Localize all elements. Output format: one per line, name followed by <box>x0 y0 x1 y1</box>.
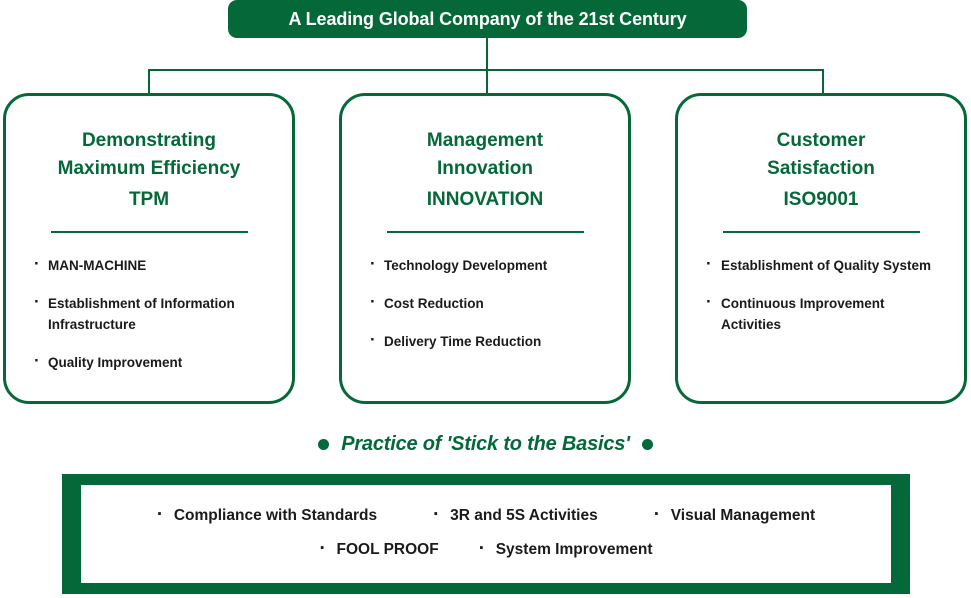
pillar-heading: Demonstrating Maximum Efficiency <box>6 96 292 183</box>
basics-row-1: Compliance with Standards 3R and 5S Acti… <box>81 507 891 525</box>
pillar-heading-line2: Innovation <box>342 155 628 183</box>
list-item: Continuous Improvement Activities <box>706 293 944 335</box>
pillar-divider <box>723 231 920 233</box>
pillar-item-list: Establishment of Quality System Continuo… <box>678 255 964 335</box>
pillar-card-innovation: Management Innovation INNOVATION Technol… <box>339 93 631 404</box>
bullet-dot-icon <box>642 439 653 450</box>
pillar-heading: Management Innovation <box>342 96 628 183</box>
pillar-heading-line2: Satisfaction <box>678 155 964 183</box>
practice-title: Practice of 'Stick to the Basics' <box>341 433 630 456</box>
list-item: MAN-MACHINE <box>34 255 272 276</box>
bullet-dot-icon <box>318 439 329 450</box>
pillar-subtitle: INNOVATION <box>342 183 628 211</box>
pillar-card-tpm: Demonstrating Maximum Efficiency TPM MAN… <box>3 93 295 404</box>
pillar-heading: Customer Satisfaction <box>678 96 964 183</box>
basics-box: Compliance with Standards 3R and 5S Acti… <box>62 474 910 594</box>
pillar-item-list: Technology Development Cost Reduction De… <box>342 255 628 352</box>
top-banner: A Leading Global Company of the 21st Cen… <box>228 0 747 38</box>
pillar-subtitle: ISO9001 <box>678 183 964 211</box>
list-item: Quality Improvement <box>34 352 272 373</box>
top-banner-title: A Leading Global Company of the 21st Cen… <box>289 9 687 30</box>
pillar-heading-line1: Customer <box>678 127 964 155</box>
list-item: Establishment of Information Infrastruct… <box>34 293 272 335</box>
diagram-canvas: A Leading Global Company of the 21st Cen… <box>0 0 971 598</box>
basics-row-2: FOOL PROOF System Improvement <box>81 541 891 559</box>
connector-trunk-vertical <box>486 38 488 70</box>
list-item: 3R and 5S Activities <box>433 507 598 525</box>
pillar-divider <box>51 231 248 233</box>
pillar-subtitle: TPM <box>6 183 292 211</box>
pillar-heading-line1: Demonstrating <box>6 127 292 155</box>
list-item: Compliance with Standards <box>157 507 377 525</box>
list-item: Delivery Time Reduction <box>370 331 608 352</box>
list-item: Cost Reduction <box>370 293 608 314</box>
pillar-heading-line2: Maximum Efficiency <box>6 155 292 183</box>
list-item: Establishment of Quality System <box>706 255 944 276</box>
list-item: System Improvement <box>479 541 653 559</box>
list-item: Technology Development <box>370 255 608 276</box>
pillar-item-list: MAN-MACHINE Establishment of Information… <box>6 255 292 373</box>
pillar-heading-line1: Management <box>342 127 628 155</box>
basics-box-inner: Compliance with Standards 3R and 5S Acti… <box>81 485 891 583</box>
list-item: FOOL PROOF <box>320 541 439 559</box>
list-item: Visual Management <box>654 507 815 525</box>
practice-heading: Practice of 'Stick to the Basics' <box>0 433 971 456</box>
pillar-card-iso9001: Customer Satisfaction ISO9001 Establishm… <box>675 93 967 404</box>
pillar-divider <box>387 231 584 233</box>
